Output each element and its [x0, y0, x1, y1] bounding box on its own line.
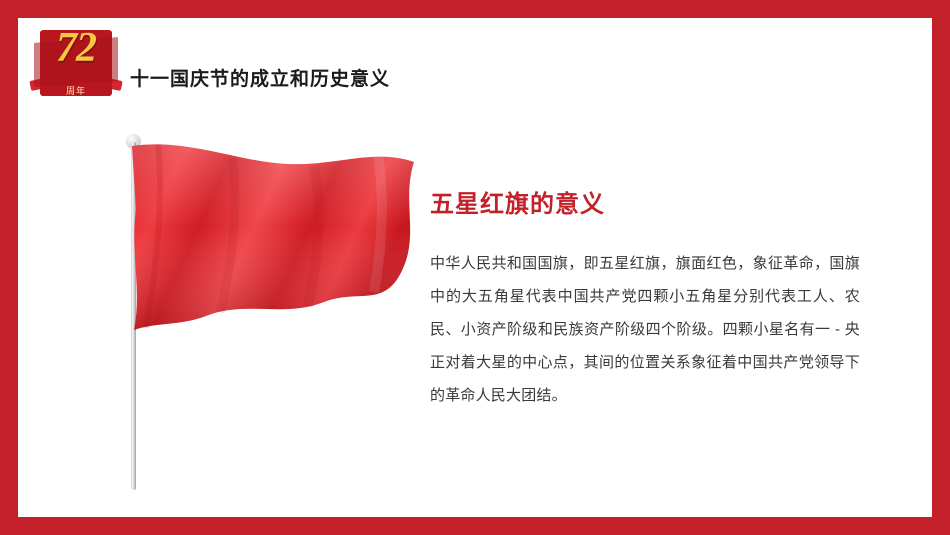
frame-left-border: [0, 0, 18, 535]
section-body: 中华人民共和国国旗，即五星红旗，旗面红色，象征革命，国旗中的大五角星代表中国共产…: [430, 247, 860, 412]
flag-cloth-icon: [128, 140, 418, 370]
slide-header: 72 周年 十一国庆节的成立和历史意义: [18, 18, 932, 104]
frame-top-border: [0, 0, 950, 18]
anniversary-label: 周年: [32, 84, 120, 97]
anniversary-badge-icon: 72 周年: [32, 22, 120, 114]
page-title: 十一国庆节的成立和历史意义: [130, 64, 390, 91]
text-block: 五星红旗的意义 中华人民共和国国旗，即五星红旗，旗面红色，象征革命，国旗中的大五…: [430, 184, 860, 412]
red-flag-icon: [98, 134, 418, 494]
section-title: 五星红旗的意义: [430, 184, 860, 219]
anniversary-number: 72: [32, 24, 120, 72]
frame-right-border: [932, 0, 950, 535]
slide: 72 周年 十一国庆节的成立和历史意义: [0, 0, 950, 535]
slide-content: 五星红旗的意义 中华人民共和国国旗，即五星红旗，旗面红色，象征革命，国旗中的大五…: [18, 104, 932, 517]
frame-bottom-border: [0, 517, 950, 535]
